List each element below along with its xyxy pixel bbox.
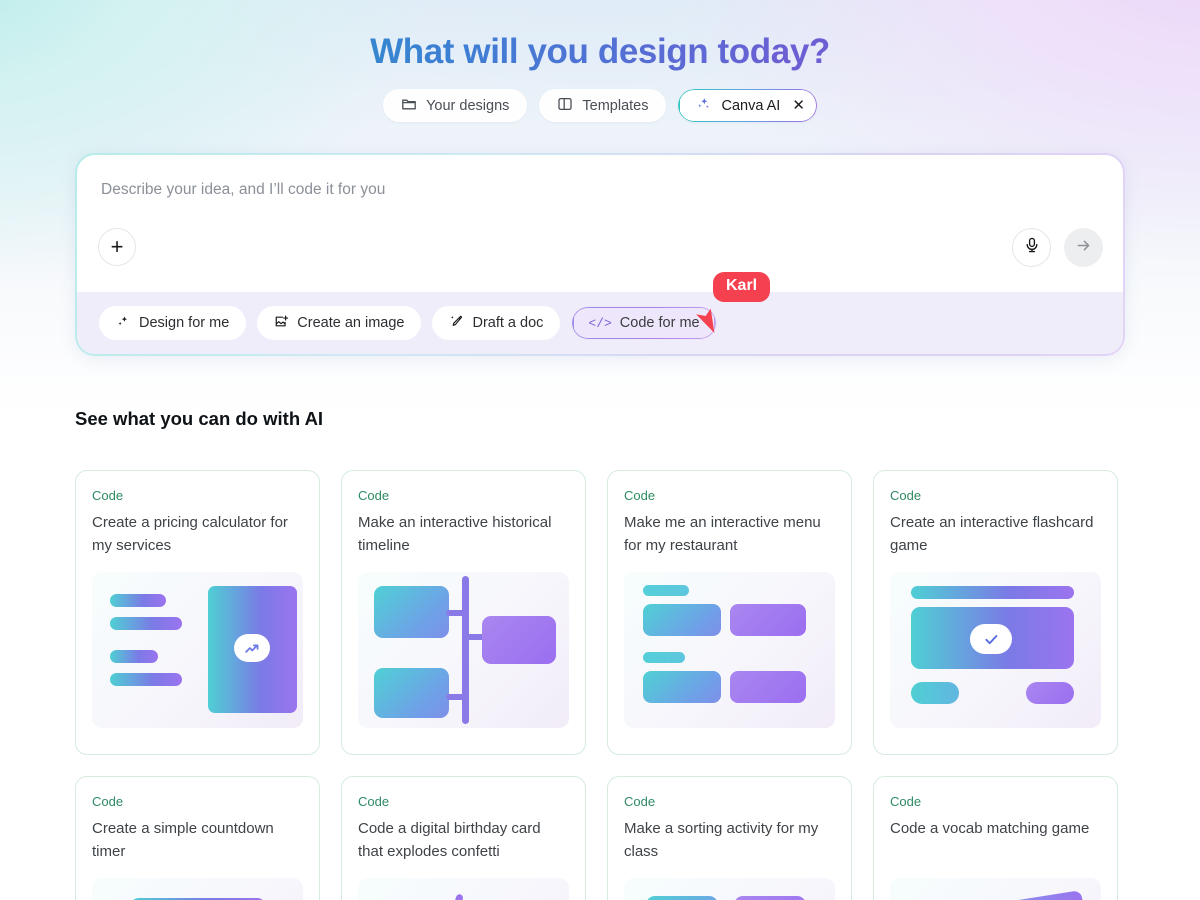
chip-label: Create an image [297, 315, 404, 331]
card-title: Make an interactive historical timeline [358, 512, 569, 558]
sparkle-icon [695, 95, 712, 116]
idea-card[interactable]: Code Make me an interactive menu for my … [607, 470, 852, 755]
card-kicker: Code [358, 794, 569, 809]
card-kicker: Code [624, 794, 835, 809]
folder-icon [401, 96, 417, 116]
idea-card[interactable]: Code Create an interactive flashcard gam… [873, 470, 1118, 755]
tab-templates[interactable]: Templates [539, 89, 666, 122]
idea-card[interactable]: Code Code a digital birthday card that e… [341, 776, 586, 900]
chip-label: Code for me [620, 315, 700, 331]
thumbnail-countdown [92, 878, 303, 900]
tab-your-designs[interactable]: Your designs [383, 89, 527, 122]
thumbnail-timeline [358, 572, 569, 728]
chip-draft-a-doc[interactable]: Draft a doc [432, 306, 560, 340]
prompt-chips: Design for me Create an image [77, 292, 1123, 354]
check-circle-icon [970, 624, 1012, 654]
card-title: Code a vocab matching game [890, 818, 1101, 864]
tab-label: Canva AI [721, 98, 780, 114]
canva-home-page: What will you design today? Your designs… [0, 0, 1200, 900]
thumbnail-pricing-calculator [92, 572, 303, 728]
card-title: Make me an interactive menu for my resta… [624, 512, 835, 558]
layout-icon [557, 96, 573, 116]
microphone-icon [1023, 236, 1041, 259]
arrow-right-icon [1075, 237, 1092, 259]
idea-card[interactable]: Code Create a simple countdown timer [75, 776, 320, 900]
microphone-button[interactable] [1012, 228, 1051, 267]
send-button[interactable] [1064, 228, 1103, 267]
card-title: Create a pricing calculator for my servi… [92, 512, 303, 558]
prompt-box: Describe your idea, and I’ll code it for… [75, 153, 1125, 356]
tab-canva-ai[interactable]: Canva AI ✕ [678, 89, 816, 122]
thumbnail-flashcard [890, 572, 1101, 728]
sparkle-icon [116, 314, 131, 333]
code-icon: </> [588, 316, 611, 331]
prompt-inner: Describe your idea, and I’ll code it for… [77, 155, 1123, 354]
card-kicker: Code [890, 488, 1101, 503]
card-kicker: Code [358, 488, 569, 503]
card-kicker: Code [92, 488, 303, 503]
idea-card-grid: Code Create a pricing calculator for my … [75, 470, 1120, 900]
thumbnail-sorting [624, 878, 835, 900]
magic-pencil-icon [449, 314, 464, 333]
chip-design-for-me[interactable]: Design for me [99, 306, 246, 340]
tab-label: Your designs [426, 98, 509, 114]
idea-card[interactable]: Code Code a vocab matching game [873, 776, 1118, 900]
thumbnail-menu-grid [624, 572, 835, 728]
card-title: Make a sorting activity for my class [624, 818, 835, 864]
card-kicker: Code [92, 794, 303, 809]
top-tabs: Your designs Templates Canva AI ✕ [0, 89, 1200, 122]
image-add-icon [274, 314, 289, 333]
chip-label: Design for me [139, 315, 229, 331]
card-title: Code a digital birthday card that explod… [358, 818, 569, 864]
chip-create-an-image[interactable]: Create an image [257, 306, 421, 340]
idea-card[interactable]: Code Make an interactive historical time… [341, 470, 586, 755]
idea-card[interactable]: Code Make a sorting activity for my clas… [607, 776, 852, 900]
page-title: What will you design today? [0, 0, 1200, 72]
plus-icon: + [111, 236, 124, 258]
tab-label: Templates [582, 98, 648, 114]
prompt-top: Describe your idea, and I’ll code it for… [77, 155, 1123, 292]
trending-up-icon [234, 634, 270, 662]
chip-code-for-me[interactable]: </> Code for me [571, 306, 716, 340]
chip-label: Draft a doc [472, 315, 543, 331]
card-title: Create a simple countdown timer [92, 818, 303, 864]
add-attachment-button[interactable]: + [98, 228, 136, 266]
prompt-controls [1012, 228, 1103, 267]
idea-card[interactable]: Code Create a pricing calculator for my … [75, 470, 320, 755]
thumbnail-confetti [358, 878, 569, 900]
close-icon[interactable]: ✕ [792, 98, 805, 113]
section-title: See what you can do with AI [75, 408, 323, 430]
thumbnail-matching [890, 878, 1101, 900]
prompt-input[interactable]: Describe your idea, and I’ll code it for… [101, 181, 1099, 199]
card-kicker: Code [890, 794, 1101, 809]
card-title: Create an interactive flashcard game [890, 512, 1101, 558]
card-kicker: Code [624, 488, 835, 503]
